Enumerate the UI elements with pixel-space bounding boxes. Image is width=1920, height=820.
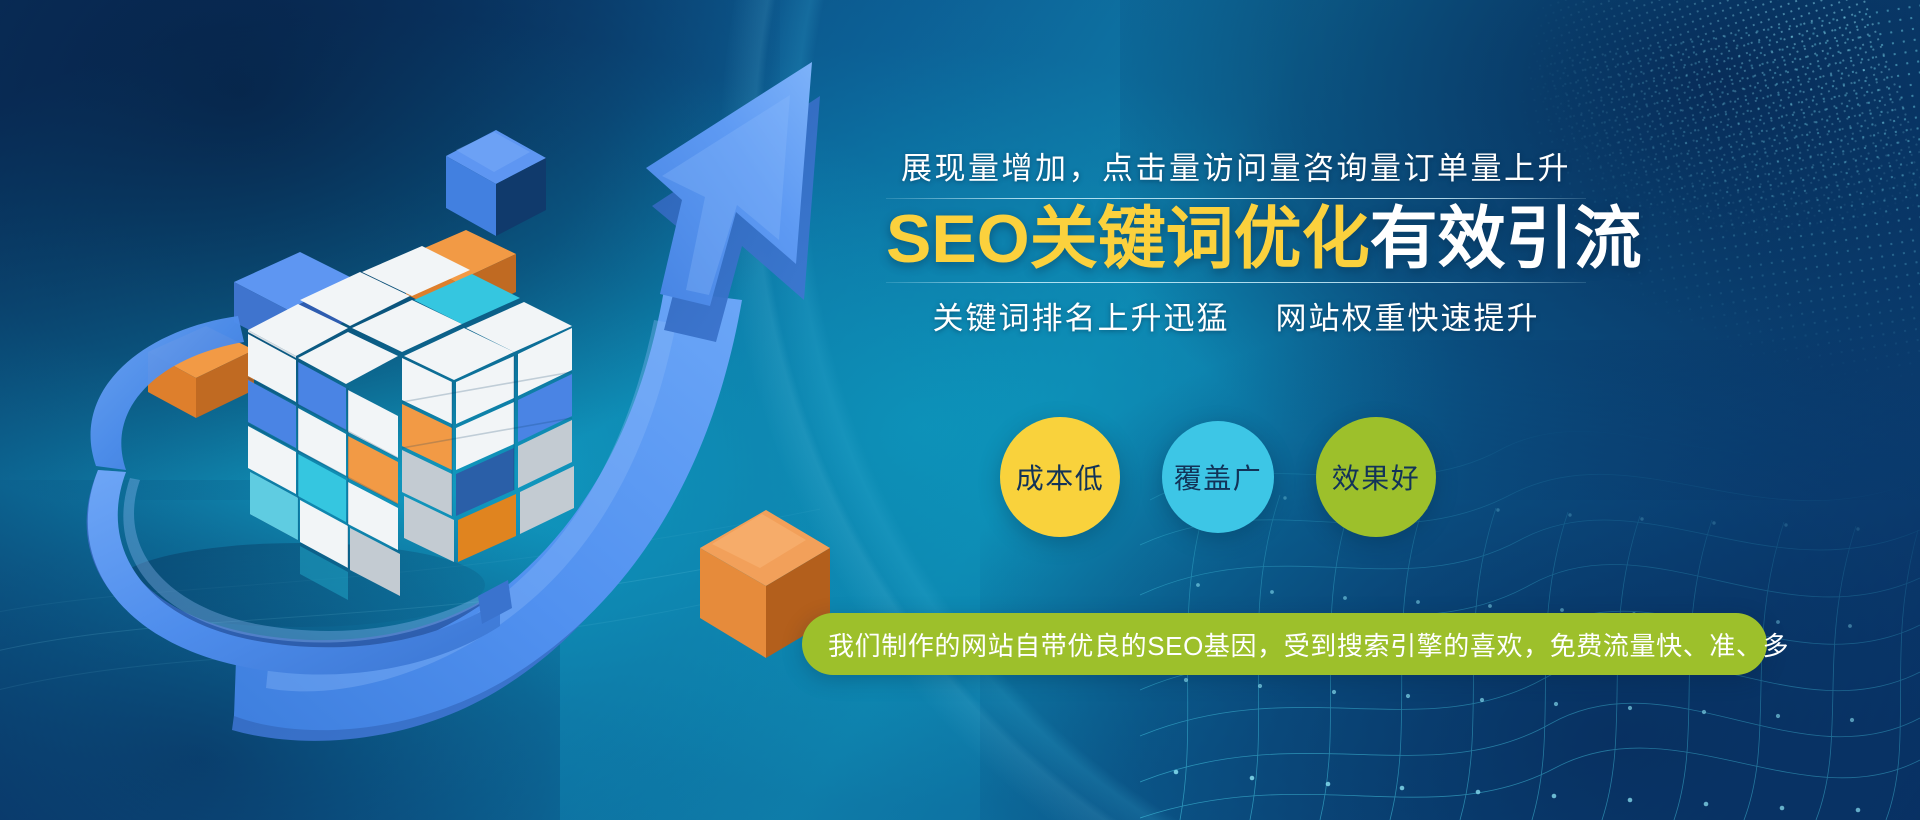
tagline-top: 展现量增加，点击量访问量咨询量订单量上升 <box>886 150 1586 189</box>
headline-block: 展现量增加，点击量访问量咨询量订单量上升 SEO关键词优化有效引流 关键词排名上… <box>886 150 1586 338</box>
headline-rest: 有效引流 <box>1370 201 1642 277</box>
seo-promo-banner: 展现量增加，点击量访问量咨询量订单量上升 SEO关键词优化有效引流 关键词排名上… <box>0 0 1920 820</box>
tagline-sub-left: 关键词排名上升迅猛 <box>933 301 1230 336</box>
divider-top <box>886 198 1586 199</box>
feature-circles: 成本低 覆盖广 效果好 <box>1000 417 1560 597</box>
divider-bottom <box>886 282 1586 283</box>
footer-pill: 我们制作的网站自带优良的SEO基因，受到搜索引擎的喜欢，免费流量快、准、多 <box>802 613 1767 675</box>
tagline-sub-right: 网站权重快速提升 <box>1276 301 1540 336</box>
page-title: SEO关键词优化有效引流 <box>886 203 1586 276</box>
hero-illustration <box>0 0 900 820</box>
feature-circle-effect: 效果好 <box>1316 417 1436 537</box>
feature-circle-cost: 成本低 <box>1000 417 1120 537</box>
tagline-sub: 关键词排名上升迅猛网站权重快速提升 <box>886 293 1586 338</box>
footer-pill-text: 我们制作的网站自带优良的SEO基因，受到搜索引擎的喜欢，免费流量快、准、多 <box>802 626 1789 663</box>
headline-highlight: SEO关键词优化 <box>886 201 1370 277</box>
floating-cube-blue <box>446 130 546 236</box>
feature-circle-cost-label: 成本低 <box>1016 457 1105 497</box>
feature-circle-coverage: 覆盖广 <box>1162 421 1274 533</box>
rubiks-cube <box>148 230 574 600</box>
feature-circle-effect-label: 效果好 <box>1332 457 1421 497</box>
feature-circle-coverage-label: 覆盖广 <box>1174 457 1263 497</box>
